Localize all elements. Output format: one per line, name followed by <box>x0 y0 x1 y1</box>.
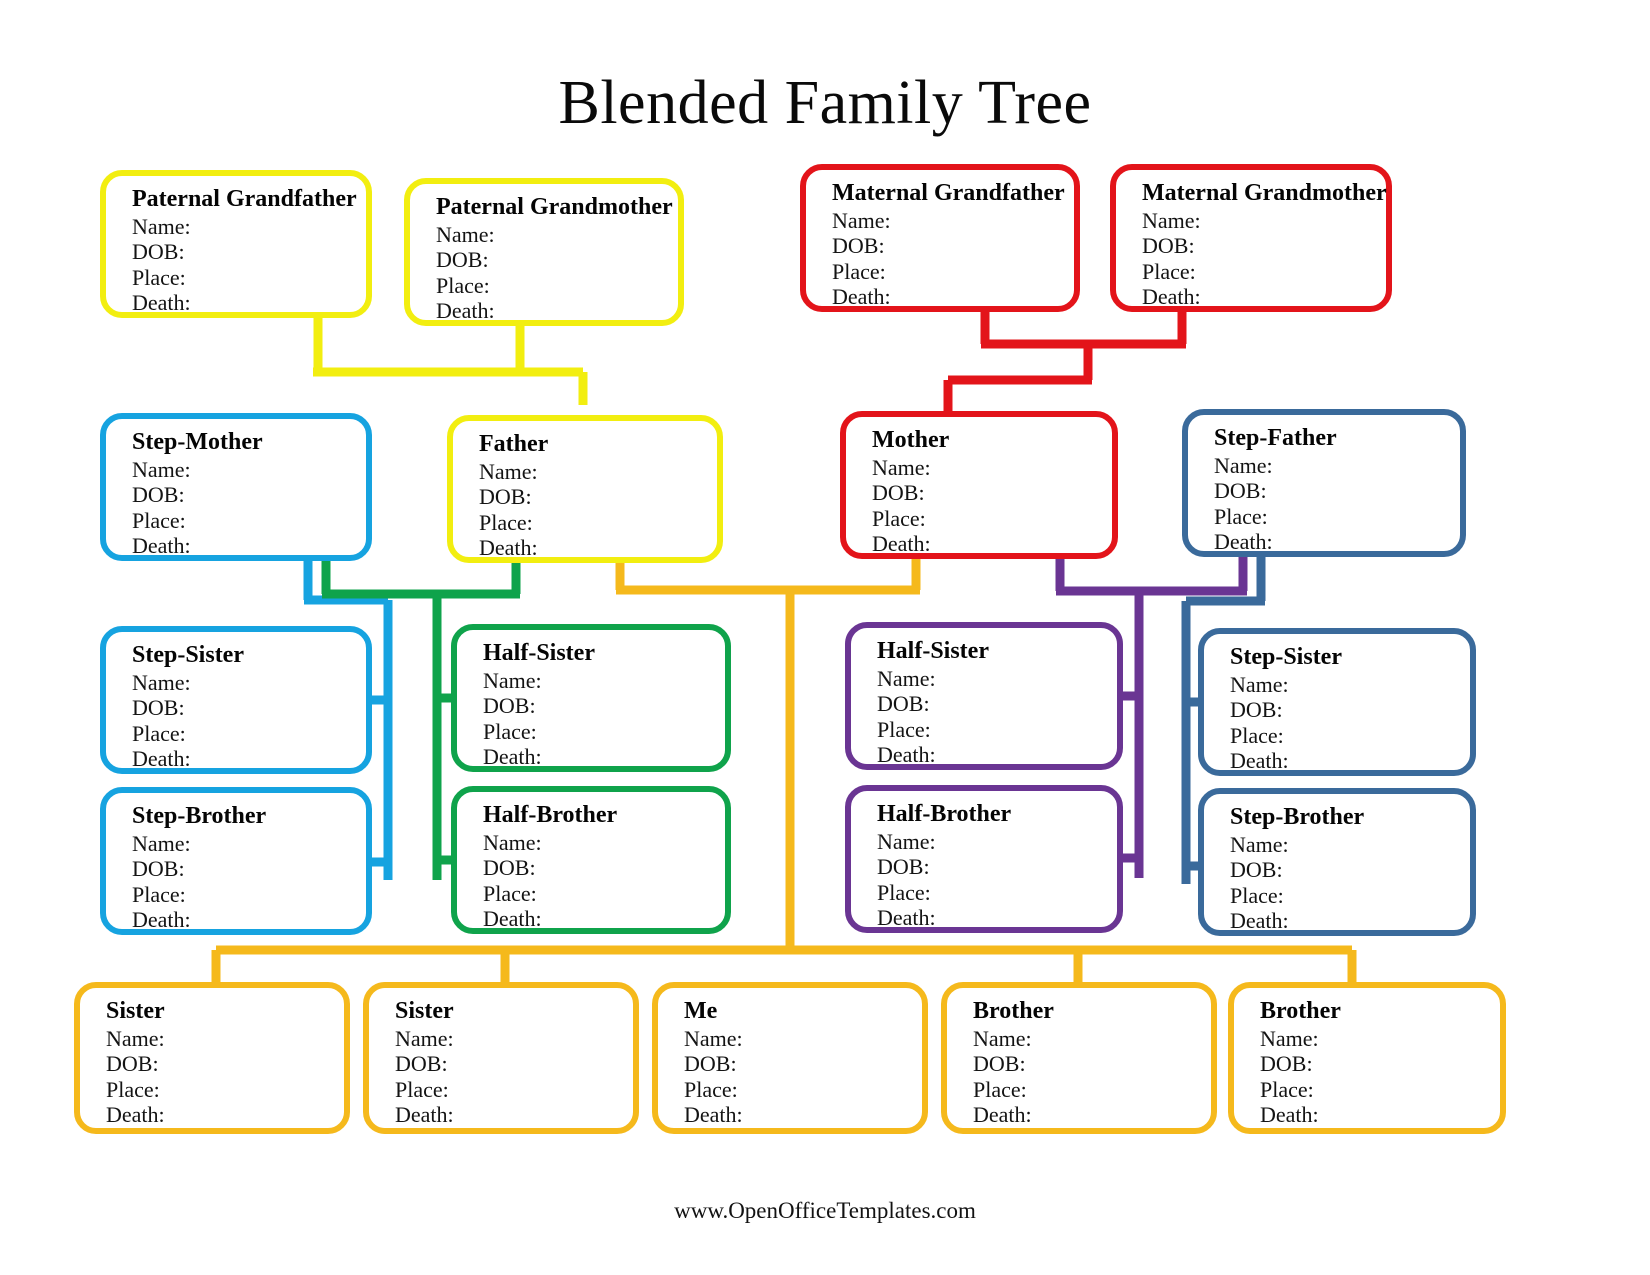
field-dob[interactable]: DOB: <box>1260 1051 1500 1077</box>
field-name[interactable]: Name: <box>832 208 1074 234</box>
field-death[interactable]: Death: <box>483 906 725 932</box>
card-step-sister-right[interactable]: Step-SisterName:DOB:Place:Death: <box>1198 628 1476 776</box>
field-death[interactable]: Death: <box>1230 748 1470 774</box>
field-place[interactable]: Place: <box>132 882 366 908</box>
field-dob[interactable]: DOB: <box>483 855 725 881</box>
field-name[interactable]: Name: <box>877 666 1117 692</box>
field-death[interactable]: Death: <box>877 905 1117 931</box>
field-name[interactable]: Name: <box>483 668 725 694</box>
field-death[interactable]: Death: <box>684 1102 922 1128</box>
field-death[interactable]: Death: <box>877 742 1117 768</box>
field-place[interactable]: Place: <box>872 506 1112 532</box>
field-death[interactable]: Death: <box>1230 908 1470 934</box>
field-place[interactable]: Place: <box>132 508 366 534</box>
field-dob[interactable]: DOB: <box>872 480 1112 506</box>
field-dob[interactable]: DOB: <box>483 693 725 719</box>
field-dob[interactable]: DOB: <box>1230 697 1470 723</box>
card-maternal-grandmother[interactable]: Maternal GrandmotherName:DOB:Place:Death… <box>1110 164 1392 312</box>
card-heading: Half-Brother <box>483 802 725 829</box>
field-death[interactable]: Death: <box>132 907 366 933</box>
field-place[interactable]: Place: <box>483 719 725 745</box>
field-name[interactable]: Name: <box>479 459 717 485</box>
field-name[interactable]: Name: <box>436 222 678 248</box>
field-place[interactable]: Place: <box>106 1077 344 1103</box>
field-place[interactable]: Place: <box>1142 259 1386 285</box>
field-dob[interactable]: DOB: <box>132 482 366 508</box>
card-heading: Sister <box>106 998 344 1025</box>
card-heading: Mother <box>872 427 1112 454</box>
field-name[interactable]: Name: <box>872 455 1112 481</box>
card-half-sister-right[interactable]: Half-SisterName:DOB:Place:Death: <box>845 622 1123 770</box>
field-dob[interactable]: DOB: <box>1142 233 1386 259</box>
card-heading: Half-Sister <box>877 638 1117 665</box>
card-step-sister-left[interactable]: Step-SisterName:DOB:Place:Death: <box>100 626 372 774</box>
field-dob[interactable]: DOB: <box>1214 478 1460 504</box>
field-death[interactable]: Death: <box>395 1102 633 1128</box>
field-dob[interactable]: DOB: <box>395 1051 633 1077</box>
card-mother[interactable]: MotherName:DOB:Place:Death: <box>840 411 1118 559</box>
page-title: Blended Family Tree <box>0 68 1650 139</box>
field-name[interactable]: Name: <box>395 1026 633 1052</box>
card-half-sister-left[interactable]: Half-SisterName:DOB:Place:Death: <box>451 624 731 772</box>
field-dob[interactable]: DOB: <box>877 854 1117 880</box>
card-paternal-grandfather[interactable]: Paternal GrandfatherName:DOB:Place:Death… <box>100 170 372 318</box>
field-dob[interactable]: DOB: <box>1230 857 1470 883</box>
card-heading: Brother <box>1260 998 1500 1025</box>
field-name[interactable]: Name: <box>132 214 366 240</box>
field-death[interactable]: Death: <box>1142 284 1386 310</box>
card-me[interactable]: MeName:DOB:Place:Death: <box>652 982 928 1134</box>
field-death[interactable]: Death: <box>1260 1102 1500 1128</box>
card-brother-2[interactable]: BrotherName:DOB:Place:Death: <box>1228 982 1506 1134</box>
field-place[interactable]: Place: <box>973 1077 1211 1103</box>
field-place[interactable]: Place: <box>684 1077 922 1103</box>
field-death[interactable]: Death: <box>479 535 717 561</box>
field-place[interactable]: Place: <box>483 881 725 907</box>
field-name[interactable]: Name: <box>132 831 366 857</box>
wire-maternal-grandparents <box>948 312 1186 412</box>
field-death[interactable]: Death: <box>132 533 366 559</box>
field-place[interactable]: Place: <box>832 259 1074 285</box>
card-heading: Brother <box>973 998 1211 1025</box>
field-dob[interactable]: DOB: <box>132 856 366 882</box>
card-step-brother-right[interactable]: Step-BrotherName:DOB:Place:Death: <box>1198 788 1476 936</box>
field-dob[interactable]: DOB: <box>132 239 366 265</box>
card-half-brother-left[interactable]: Half-BrotherName:DOB:Place:Death: <box>451 786 731 934</box>
card-half-brother-right[interactable]: Half-BrotherName:DOB:Place:Death: <box>845 785 1123 933</box>
field-death[interactable]: Death: <box>132 290 366 316</box>
field-death[interactable]: Death: <box>973 1102 1211 1128</box>
card-heading: Paternal Grandmother <box>436 194 678 221</box>
card-sister-2[interactable]: SisterName:DOB:Place:Death: <box>363 982 639 1134</box>
field-death[interactable]: Death: <box>436 298 678 324</box>
card-brother-1[interactable]: BrotherName:DOB:Place:Death: <box>941 982 1217 1134</box>
card-father[interactable]: FatherName:DOB:Place:Death: <box>447 415 723 563</box>
card-heading: Paternal Grandfather <box>132 186 366 213</box>
card-heading: Maternal Grandfather <box>832 180 1074 207</box>
field-place[interactable]: Place: <box>1230 883 1470 909</box>
card-heading: Step-Father <box>1214 425 1460 452</box>
footer-url: www.OpenOfficeTemplates.com <box>0 1198 1650 1224</box>
card-heading: Father <box>479 431 717 458</box>
field-place[interactable]: Place: <box>436 273 678 299</box>
field-dob[interactable]: DOB: <box>832 233 1074 259</box>
field-place[interactable]: Place: <box>1214 504 1460 530</box>
field-dob[interactable]: DOB: <box>684 1051 922 1077</box>
field-dob[interactable]: DOB: <box>436 247 678 273</box>
field-dob[interactable]: DOB: <box>479 484 717 510</box>
field-name[interactable]: Name: <box>1260 1026 1500 1052</box>
card-heading: Step-Sister <box>132 642 366 669</box>
field-name[interactable]: Name: <box>684 1026 922 1052</box>
field-name[interactable]: Name: <box>1214 453 1460 479</box>
field-death[interactable]: Death: <box>1214 529 1460 555</box>
field-place[interactable]: Place: <box>1230 723 1470 749</box>
field-death[interactable]: Death: <box>832 284 1074 310</box>
field-name[interactable]: Name: <box>877 829 1117 855</box>
card-heading: Sister <box>395 998 633 1025</box>
field-place[interactable]: Place: <box>395 1077 633 1103</box>
card-heading: Maternal Grandmother <box>1142 180 1386 207</box>
field-dob[interactable]: DOB: <box>106 1051 344 1077</box>
field-name[interactable]: Name: <box>483 830 725 856</box>
field-dob[interactable]: DOB: <box>973 1051 1211 1077</box>
field-place[interactable]: Place: <box>877 880 1117 906</box>
wire-full-siblings <box>216 559 1352 985</box>
field-place[interactable]: Place: <box>479 510 717 536</box>
field-death[interactable]: Death: <box>483 744 725 770</box>
card-heading: Step-Mother <box>132 429 366 456</box>
card-maternal-grandfather[interactable]: Maternal GrandfatherName:DOB:Place:Death… <box>800 164 1080 312</box>
card-heading: Half-Sister <box>483 640 725 667</box>
field-dob[interactable]: DOB: <box>877 691 1117 717</box>
field-place[interactable]: Place: <box>132 721 366 747</box>
card-step-brother-left[interactable]: Step-BrotherName:DOB:Place:Death: <box>100 787 372 935</box>
card-paternal-grandmother[interactable]: Paternal GrandmotherName:DOB:Place:Death… <box>404 178 684 326</box>
card-step-father[interactable]: Step-FatherName:DOB:Place:Death: <box>1182 409 1466 557</box>
card-sister-1[interactable]: SisterName:DOB:Place:Death: <box>74 982 350 1134</box>
card-heading: Me <box>684 998 922 1025</box>
card-heading: Step-Brother <box>1230 804 1470 831</box>
card-heading: Half-Brother <box>877 801 1117 828</box>
card-heading: Step-Brother <box>132 803 366 830</box>
field-dob[interactable]: DOB: <box>132 695 366 721</box>
field-name[interactable]: Name: <box>132 670 366 696</box>
field-death[interactable]: Death: <box>132 746 366 772</box>
field-name[interactable]: Name: <box>1230 672 1470 698</box>
field-name[interactable]: Name: <box>1230 832 1470 858</box>
field-place[interactable]: Place: <box>1260 1077 1500 1103</box>
field-name[interactable]: Name: <box>106 1026 344 1052</box>
field-death[interactable]: Death: <box>872 531 1112 557</box>
field-death[interactable]: Death: <box>106 1102 344 1128</box>
family-tree-page: Blended Family Tree <box>0 0 1650 1275</box>
field-name[interactable]: Name: <box>1142 208 1386 234</box>
field-name[interactable]: Name: <box>132 457 366 483</box>
card-heading: Step-Sister <box>1230 644 1470 671</box>
wire-paternal-grandparents <box>313 318 583 400</box>
card-step-mother[interactable]: Step-MotherName:DOB:Place:Death: <box>100 413 372 561</box>
field-name[interactable]: Name: <box>973 1026 1211 1052</box>
field-place[interactable]: Place: <box>132 265 366 291</box>
field-place[interactable]: Place: <box>877 717 1117 743</box>
